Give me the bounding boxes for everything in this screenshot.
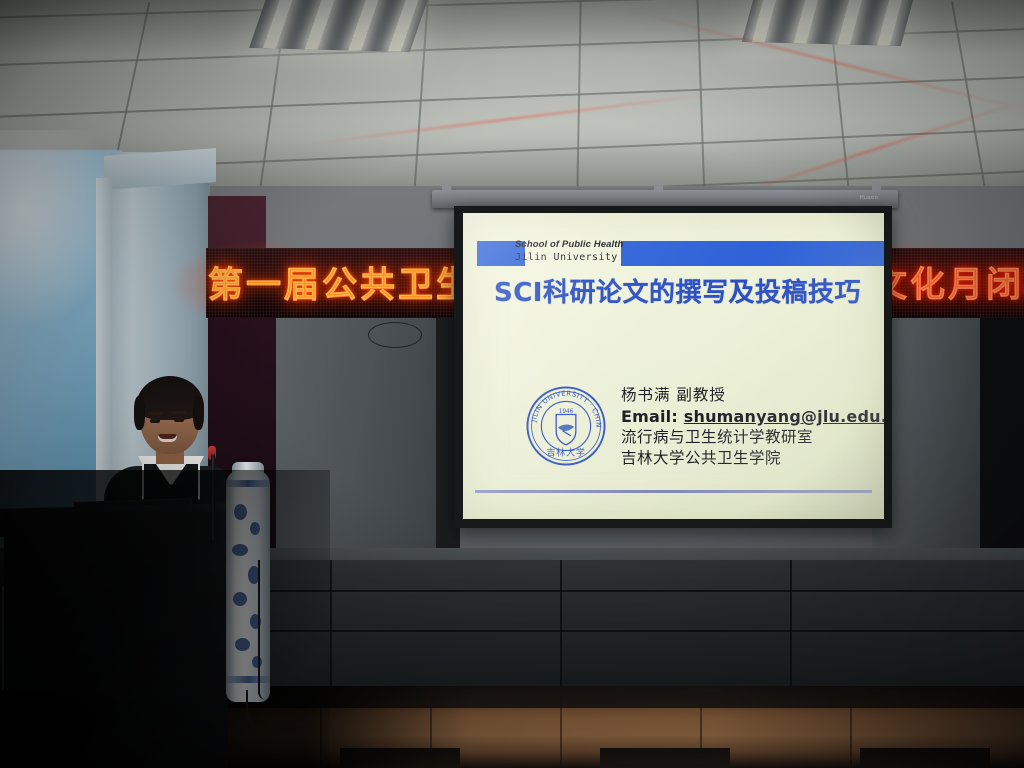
slide-title: SCI科研论文的撰写及投稿技巧 bbox=[489, 277, 866, 310]
svg-text:1946: 1946 bbox=[559, 409, 574, 415]
led-text-left: 第一届公共卫生 bbox=[208, 256, 470, 307]
projection-screen: School of Public Health Jilin University… bbox=[454, 206, 892, 528]
lecture-hall-photo: 第一届公共卫生 文化月闭幕 Huaxin School of Public He… bbox=[0, 0, 1024, 768]
slide: School of Public Health Jilin University… bbox=[463, 213, 884, 519]
microphone-base bbox=[200, 540, 224, 549]
presenter-institution: 吉林大学公共卫生学院 bbox=[621, 448, 874, 469]
university-name: Jilin University bbox=[515, 251, 635, 264]
presenter-info: 杨书满 副教授 Email: shumanyang@jlu.edu.cn 流行病… bbox=[621, 385, 874, 469]
housing-brand-label: Huaxin bbox=[860, 195, 878, 201]
header-accent-bar bbox=[621, 241, 884, 266]
microphone-stand bbox=[211, 454, 215, 546]
slide-divider bbox=[475, 490, 872, 493]
presenter-name: 杨书满 副教授 bbox=[621, 385, 874, 406]
slide-header: School of Public Health Jilin University bbox=[463, 241, 884, 266]
presenter-email-line: Email: shumanyang@jlu.edu.cn bbox=[621, 406, 874, 427]
svg-text:吉林大学: 吉林大学 bbox=[546, 447, 585, 459]
presenter-department: 流行病与卫生统计学教研室 bbox=[621, 427, 874, 448]
side-table bbox=[0, 690, 96, 768]
chalkboard-panel-left bbox=[276, 318, 436, 550]
svg-text:JILIN UNIVERSITY · CHINA: JILIN UNIVERSITY · CHINA bbox=[525, 385, 602, 428]
cable-loop bbox=[368, 322, 422, 348]
email-address-link[interactable]: shumanyang@jlu.edu.cn bbox=[684, 407, 884, 426]
jilin-university-seal-icon: JILIN UNIVERSITY · CHINA 1946 吉林大学 bbox=[525, 385, 607, 467]
mic-cable bbox=[258, 560, 266, 700]
email-label: Email: bbox=[621, 407, 678, 426]
led-text-right: 文化月闭幕 bbox=[872, 256, 1024, 307]
wall-panel-dark-right bbox=[980, 318, 1024, 550]
school-name: School of Public Health bbox=[515, 239, 635, 251]
mouth bbox=[158, 434, 177, 442]
led-panel-left: 第一届公共卫生 bbox=[206, 248, 470, 318]
